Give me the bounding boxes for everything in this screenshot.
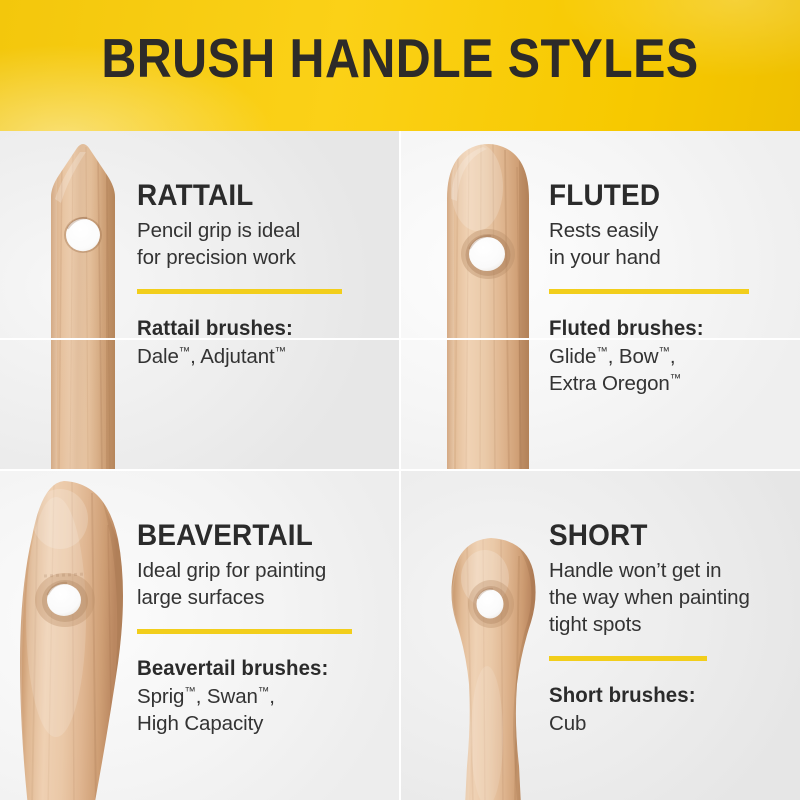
style-name-rattail: RATTAIL (137, 179, 360, 212)
brushes-label-short: Short brushes: (549, 683, 777, 708)
brush-name: , Swan (196, 685, 258, 708)
desc-line-1: Ideal grip for painting (137, 559, 326, 582)
brush-name: Extra Oregon (549, 372, 670, 395)
brushes-list-fluted: Glide™, Bow™, Extra Oregon™ (549, 343, 781, 397)
trademark-symbol: ™ (670, 373, 681, 385)
rattail-copy: RATTAIL Pencil grip is ideal for precisi… (137, 179, 377, 370)
infographic-root: BRUSH HANDLE STYLES (0, 0, 800, 800)
brush-name: Glide (549, 345, 596, 368)
brush-name: , Bow (608, 345, 659, 368)
style-description-rattail: Pencil grip is ideal for precision work (137, 217, 377, 271)
style-description-beavertail: Ideal grip for painting large surfaces (137, 557, 385, 611)
desc-line-1: Rests easily (549, 219, 658, 242)
brushes-list-short: Cub (549, 710, 789, 737)
brushes-list-beavertail: Sprig™, Swan™, High Capacity (137, 683, 385, 737)
accent-divider-beavertail (137, 629, 352, 634)
panel-beavertail[interactable]: BEAVERTAIL Ideal grip for painting large… (0, 471, 399, 800)
trademark-symbol: ™ (258, 686, 269, 698)
style-name-beavertail: BEAVERTAIL (137, 519, 368, 552)
brush-name: High Capacity (137, 712, 263, 735)
accent-divider-fluted (549, 289, 749, 294)
trademark-symbol: ™ (179, 346, 190, 358)
desc-line-2: large surfaces (137, 586, 264, 609)
style-description-short: Handle won’t get in the way when paintin… (549, 557, 789, 638)
rattail-handle-icon (28, 131, 138, 469)
panel-rattail[interactable]: RATTAIL Pencil grip is ideal for precisi… (0, 131, 399, 469)
brushes-label-beavertail: Beavertail brushes: (137, 656, 373, 681)
short-copy: SHORT Handle won’t get in the way when p… (549, 519, 789, 737)
brush-name: Cub (549, 712, 586, 735)
brushes-list-rattail: Dale™, Adjutant™ (137, 343, 377, 370)
desc-line-2: the way when painting (549, 586, 750, 609)
brush-name: Sprig (137, 685, 184, 708)
fluted-copy: FLUTED Rests easily in your hand Fluted … (549, 179, 781, 397)
comma: , (269, 685, 275, 708)
trademark-symbol: ™ (596, 346, 607, 358)
fluted-handle-icon (425, 131, 555, 469)
accent-divider-rattail (137, 289, 342, 294)
trademark-symbol: ™ (275, 346, 286, 358)
trademark-symbol: ™ (659, 346, 670, 358)
brush-name: Dale (137, 345, 179, 368)
panel-divider-horizontal (0, 338, 800, 340)
desc-line-3: tight spots (549, 613, 641, 636)
panel-divider-vertical (399, 131, 401, 800)
trademark-symbol: ™ (184, 686, 195, 698)
comma: , (670, 345, 676, 368)
desc-line-1: Handle won’t get in (549, 559, 721, 582)
page-title: BRUSH HANDLE STYLES (48, 27, 752, 89)
desc-line-2: in your hand (549, 246, 661, 269)
panel-short[interactable]: SHORT Handle won’t get in the way when p… (401, 471, 800, 800)
desc-line-1: Pencil grip is ideal (137, 219, 300, 242)
accent-divider-short (549, 656, 707, 661)
header-banner: BRUSH HANDLE STYLES (0, 0, 800, 131)
style-description-fluted: Rests easily in your hand (549, 217, 781, 271)
panel-fluted[interactable]: FLUTED Rests easily in your hand Fluted … (401, 131, 800, 469)
desc-line-2: for precision work (137, 246, 296, 269)
beavertail-copy: BEAVERTAIL Ideal grip for painting large… (137, 519, 385, 737)
style-name-fluted: FLUTED (549, 179, 765, 212)
brush-name: , Adjutant (190, 345, 274, 368)
beavertail-handle-icon (0, 471, 154, 800)
style-name-short: SHORT (549, 519, 772, 552)
